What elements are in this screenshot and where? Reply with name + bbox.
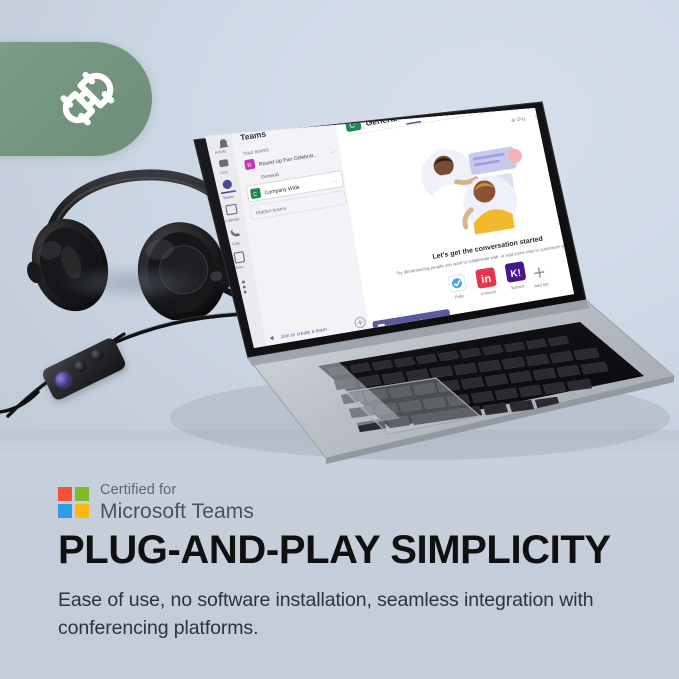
- volume-button[interactable]: [72, 358, 88, 374]
- plug-connector-icon: [48, 60, 126, 138]
- feature-badge: [0, 42, 152, 156]
- laptop: ThinkPad X1 Search Teams: [150, 80, 679, 480]
- tab-add: +: [500, 99, 504, 105]
- svg-text:↗: ↗: [566, 108, 571, 115]
- svg-text:K!: K!: [510, 268, 522, 281]
- mute-button[interactable]: [89, 347, 105, 363]
- teams-search-placeholder: Search: [370, 86, 392, 96]
- logo-square-red: [58, 487, 72, 501]
- page-title: PLUG-AND-PLAY SIMPLICITY: [58, 528, 611, 573]
- microsoft-teams-label: Microsoft Teams: [100, 501, 254, 522]
- logo-square-yellow: [75, 504, 89, 518]
- page-subtitle: Ease of use, no software installation, s…: [58, 586, 603, 643]
- svg-text:C: C: [349, 120, 356, 130]
- logo-square-green: [75, 487, 89, 501]
- certified-for-label: Certified for: [100, 483, 254, 498]
- svg-text:···: ···: [330, 149, 337, 156]
- teams-button[interactable]: [53, 370, 73, 390]
- svg-text:♡: ♡: [550, 111, 556, 118]
- svg-text:···: ···: [331, 178, 338, 185]
- certification-lockup: Certified for Microsoft Teams: [58, 483, 254, 522]
- certification-text: Certified for Microsoft Teams: [100, 483, 254, 522]
- product-marketing-image: ThinkPad X1 Search Teams: [0, 0, 679, 679]
- logo-square-blue: [58, 504, 72, 518]
- microsoft-logo: [58, 487, 89, 518]
